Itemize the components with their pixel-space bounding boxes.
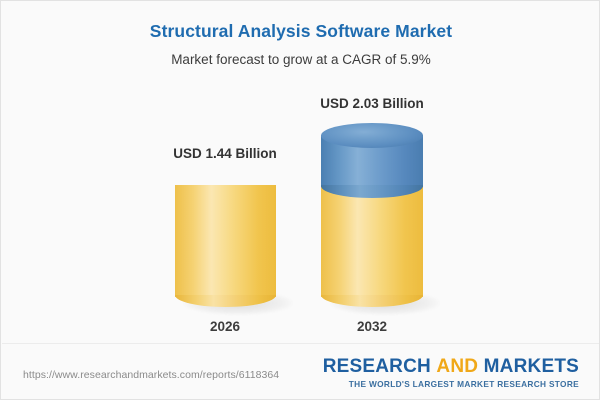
logo-tagline: THE WORLD'S LARGEST MARKET RESEARCH STOR… (323, 379, 579, 389)
bar-cylinder-2032[interactable] (321, 123, 423, 306)
footer: https://www.researchandmarkets.com/repor… (1, 344, 600, 399)
bar-cylinder-2026[interactable] (175, 173, 276, 306)
logo-word-research: RESEARCH (323, 356, 431, 377)
source-url[interactable]: https://www.researchandmarkets.com/repor… (23, 369, 279, 381)
value-label-2026: USD 1.44 Billion (115, 146, 335, 161)
infographic-card: Structural Analysis Software Market Mark… (0, 0, 600, 400)
value-label-2032: USD 2.03 Billion (262, 96, 482, 111)
chart-plot-area: USD 1.44 Billion 2026 USD 2.03 Billion (1, 1, 600, 343)
research-and-markets-logo[interactable]: RESEARCH AND MARKETS THE WORLD'S LARGEST… (323, 357, 579, 389)
bar-2032-top-cap (321, 123, 423, 148)
logo-word-markets: MARKETS (484, 356, 579, 377)
bar-2026-body-overlay (175, 185, 276, 295)
bar-2032-body-overlay (321, 185, 423, 295)
category-label-2032: 2032 (272, 319, 472, 334)
logo-word-and: AND (436, 356, 478, 377)
bar-2026-top-cap-shade (175, 173, 276, 198)
logo-wordmark: RESEARCH AND MARKETS (323, 357, 579, 377)
